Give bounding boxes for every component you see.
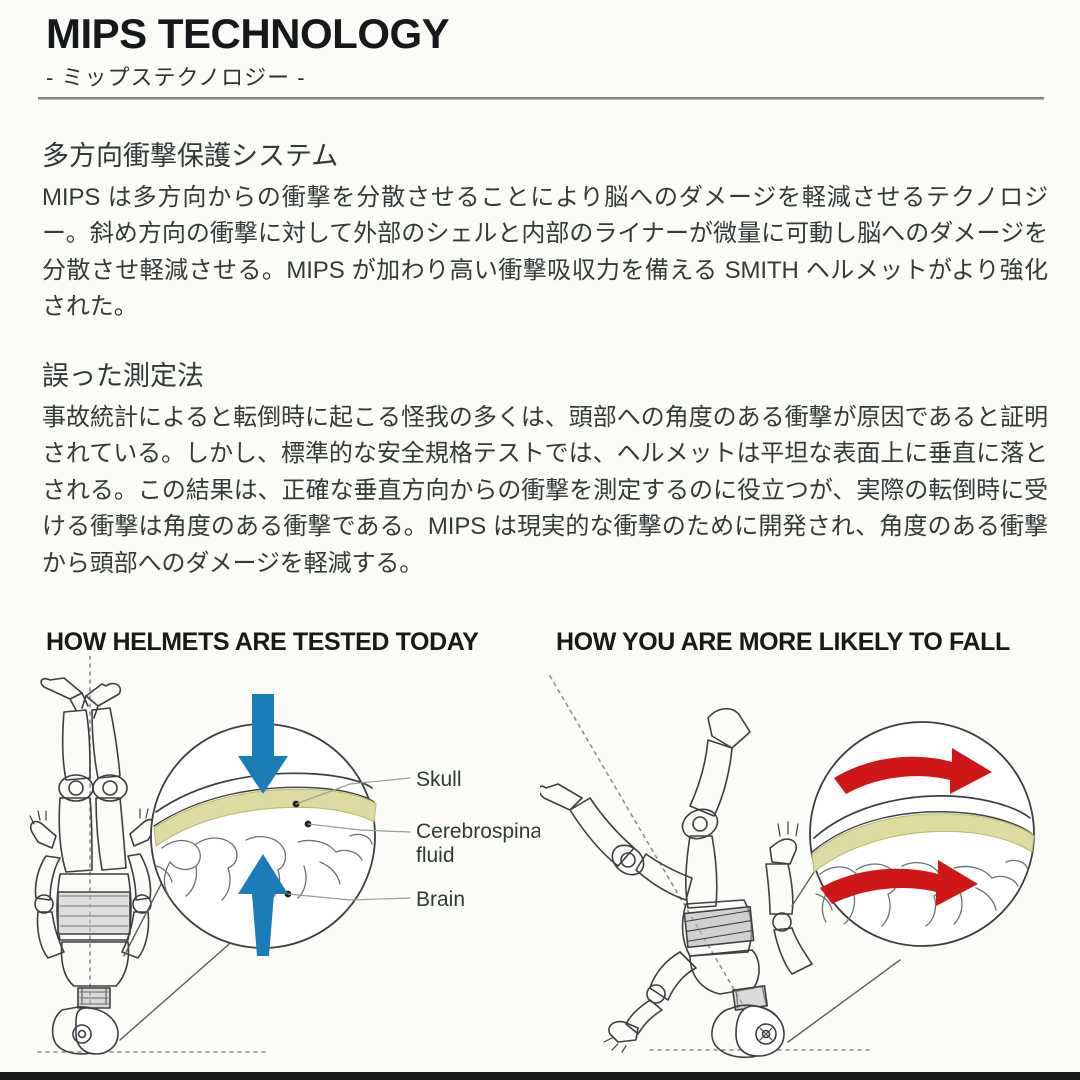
crash-dummy-angled [540,709,812,1058]
section-2-heading: 誤った測定法 [42,360,1048,394]
page-subtitle: - ミップステクノロジー - [46,60,1046,92]
diagram-vertical-drop-test: Skull Cerebrospinal fluid Brain [20,656,540,1080]
label-cerebrospinal-line2: fluid [416,844,455,867]
section-1-body: MIPS は多方向からの衝撃を分散させることにより脳へのダメージを軽減させるテク… [42,180,1048,326]
diagram-zone: HOW HELMETS ARE TESTED TODAY HOW YOU ARE… [0,612,1080,1080]
bottom-bar [0,1072,1080,1080]
diagram-angled-fall [540,656,1080,1080]
label-skull: Skull [416,768,462,791]
head-cross-section-circle-rotational [810,722,1034,946]
title-divider [38,97,1044,100]
label-cerebrospinal-line1: Cerebrospinal [416,820,540,843]
section-2-body: 事故統計によると転倒時に起こる怪我の多くは、頭部への角度のある衝撃が原因であると… [42,400,1048,582]
label-brain: Brain [416,888,465,911]
section-multi-directional-impact: 多方向衝撃保護システム MIPS は多方向からの衝撃を分散させることにより脳への… [42,140,1048,326]
section-1-heading: 多方向衝撃保護システム [42,140,1048,174]
crash-dummy-vertical [30,678,156,1054]
diagram-right-heading: HOW YOU ARE MORE LIKELY TO FALL [556,628,1010,657]
diagram-left-heading: HOW HELMETS ARE TESTED TODAY [46,628,478,657]
header-block: MIPS TECHNOLOGY - ミップステクノロジー - [46,12,1046,92]
section-wrong-test-method: 誤った測定法 事故統計によると転倒時に起こる怪我の多くは、頭部への角度のある衝撃… [42,360,1048,582]
head-cross-section-circle [151,694,410,956]
mips-technology-page: MIPS TECHNOLOGY - ミップステクノロジー - 多方向衝撃保護シス… [0,0,1080,1080]
page-title: MIPS TECHNOLOGY [46,12,1046,56]
callout-connector-lower [788,960,900,1042]
